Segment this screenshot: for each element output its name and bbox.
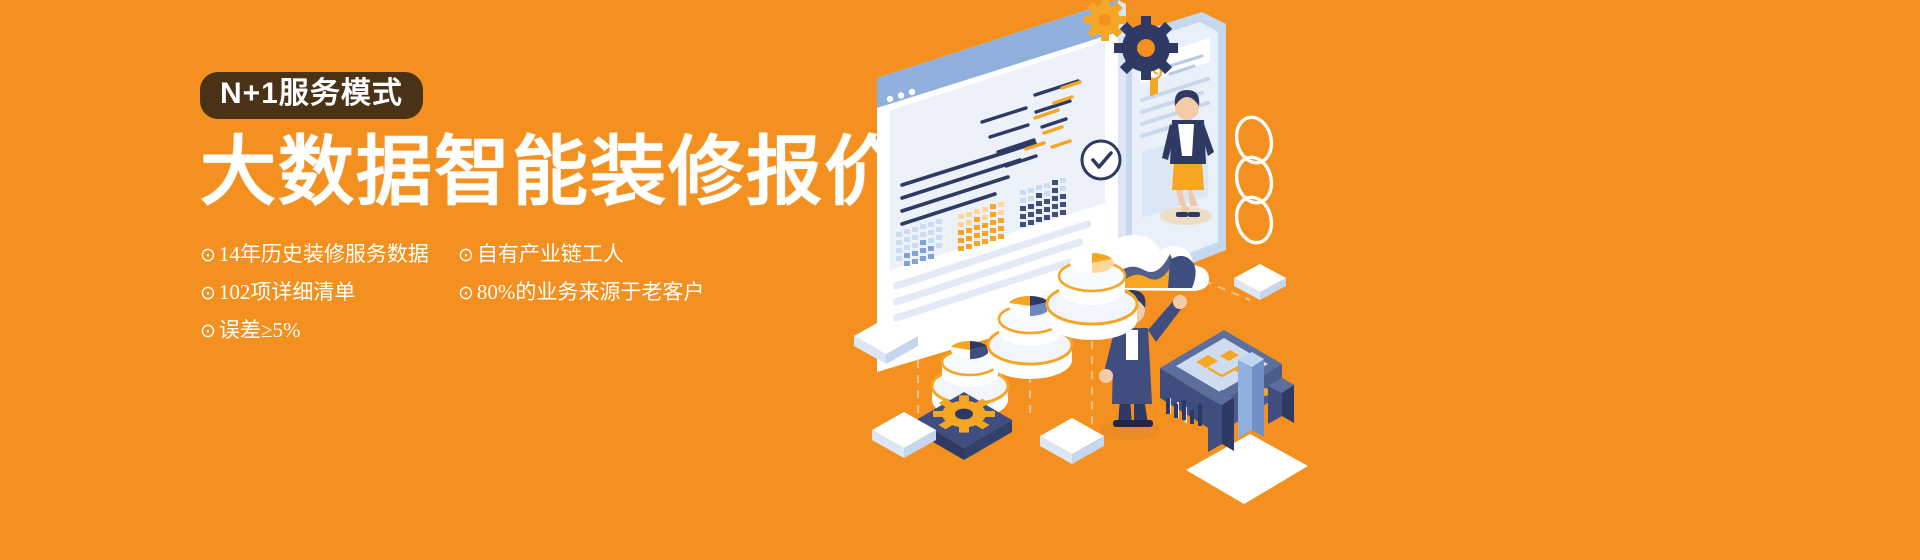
big-data-illustration: [830, 0, 1390, 560]
bullet-marker-icon: ⊙: [200, 282, 216, 305]
list-item-label: 自有产业链工人: [477, 242, 624, 267]
bullet-marker-icon: ⊙: [458, 244, 474, 267]
list-item-label: 80%的业务来源于老客户: [477, 280, 705, 305]
list-item: ⊙ 14年历史装修服务数据: [200, 242, 458, 267]
bullet-marker-icon: ⊙: [458, 282, 474, 305]
list-item-label: 误差≥5%: [219, 318, 301, 343]
bullet-marker-icon: ⊙: [200, 320, 216, 343]
list-item: ⊙ 误差≥5%: [200, 318, 458, 343]
gear-small: [1084, 0, 1126, 41]
list-item-label: 102项详细清单: [219, 280, 356, 305]
check-badge: [1082, 141, 1120, 179]
page-title: 大数据智能装修报价: [200, 133, 920, 211]
ring-stack: [1232, 114, 1276, 247]
copy-block: N+1服务模式 大数据智能装修报价 ⊙ 14年历史装修服务数据 ⊙ 自有产业链工…: [200, 72, 920, 350]
gear-large: [1114, 16, 1178, 80]
list-item: ⊙ 102项详细清单: [200, 280, 458, 305]
banner-root: N+1服务模式 大数据智能装修报价 ⊙ 14年历史装修服务数据 ⊙ 自有产业链工…: [0, 0, 1920, 560]
service-mode-badge: N+1服务模式: [200, 72, 423, 119]
feature-bullet-list: ⊙ 14年历史装修服务数据 ⊙ 自有产业链工人 ⊙ 102项详细清单 ⊙ 80%…: [200, 236, 920, 350]
list-item-label: 14年历史装修服务数据: [219, 242, 429, 267]
bullet-marker-icon: ⊙: [200, 244, 216, 267]
